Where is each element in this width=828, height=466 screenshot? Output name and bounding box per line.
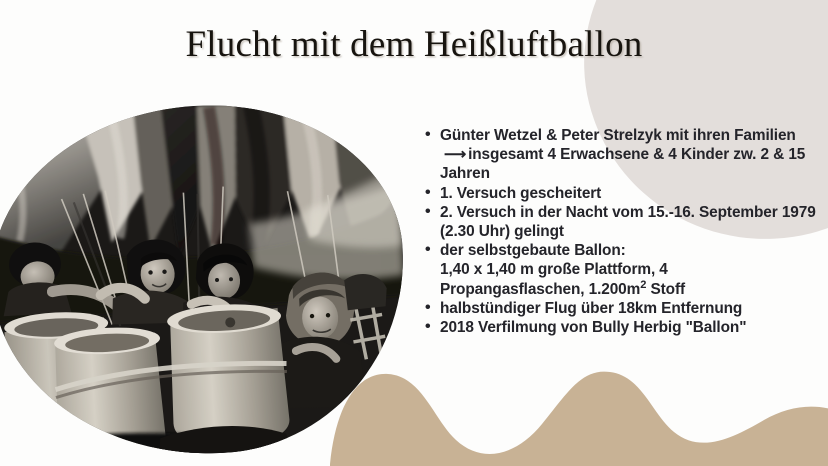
presentation-slide: Flucht mit dem Heißluftballon Günter Wet… (0, 0, 828, 466)
bullet-families-post: insgesamt 4 Erwachsene & 4 Kinder zw. 2 … (440, 146, 805, 182)
bullet-second-attempt: 2. Versuch in der Nacht vom 15.-16. Sept… (424, 203, 816, 241)
tan-wave-path (330, 372, 828, 466)
balloon-escape-photo (0, 95, 413, 464)
bullet-flight-text: halbstündiger Flug über 18km Entfernung (440, 300, 742, 317)
bullet-list: Günter Wetzel & Peter Strelzyk mit ihren… (424, 126, 816, 337)
right-arrow-icon: ⟶ (440, 145, 468, 164)
bullet-families-pre: Günter Wetzel & Peter Strelzyk mit ihren… (440, 127, 796, 144)
bullet-film: 2018 Verfilmung von Bully Herbig "Ballon… (424, 318, 816, 337)
bullet-first-attempt-text: 1. Versuch gescheitert (440, 185, 601, 202)
bullet-balloon-specs-line3: Stoff (646, 281, 685, 298)
slide-title: Flucht mit dem Heißluftballon (0, 22, 828, 68)
bullet-families: Günter Wetzel & Peter Strelzyk mit ihren… (424, 126, 816, 184)
bullet-first-attempt: 1. Versuch gescheitert (424, 184, 816, 203)
bullet-balloon-specs-line1: der selbstgebaute Ballon: (440, 242, 626, 259)
bullet-flight: halbstündiger Flug über 18km Entfernung (424, 299, 816, 318)
tan-wave-decoration (330, 352, 828, 466)
bullet-film-text: 2018 Verfilmung von Bully Herbig "Ballon… (440, 319, 746, 336)
bullet-balloon-specs: der selbstgebaute Ballon:1,40 x 1,40 m g… (424, 241, 816, 299)
bullet-balloon-specs-line2: 1,40 x 1,40 m große Plattform, 4 Propang… (440, 261, 668, 297)
bullet-second-attempt-text: 2. Versuch in der Nacht vom 15.-16. Sept… (440, 204, 816, 240)
